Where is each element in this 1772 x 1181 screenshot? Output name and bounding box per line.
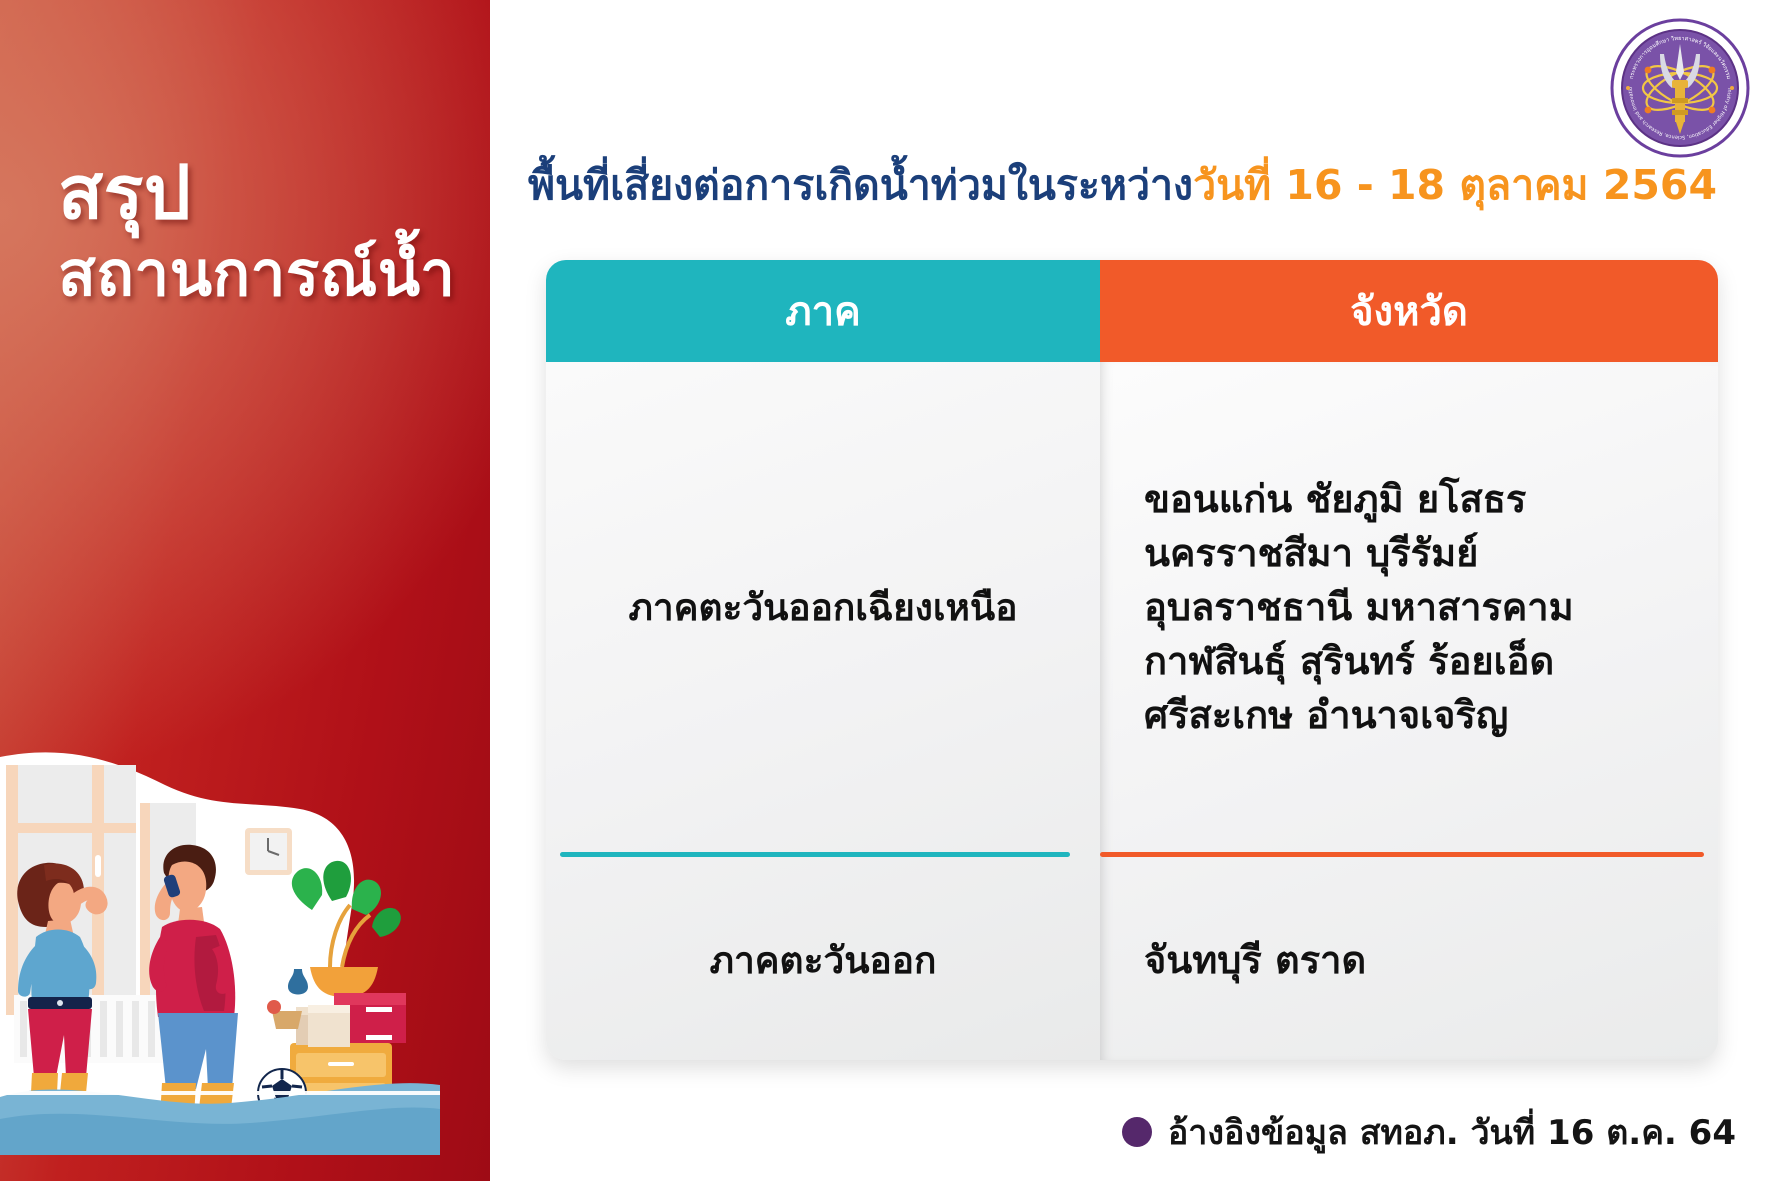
province-line: ศรีสะเกษ อำนาจเจริญ — [1144, 689, 1574, 743]
table-row: ขอนแก่น ชัยภูมิ ยโสธร นครราชสีมา บุรีรัม… — [1100, 362, 1718, 854]
region-cell-2: ภาคตะวันออก — [710, 936, 937, 986]
table-column-region: ภาคตะวันออกเฉียงเหนือ ภาคตะวันออก — [546, 362, 1100, 1060]
table-row: ภาคตะวันออก — [546, 862, 1100, 1060]
ministry-logo: กระทรวงการอุดมศึกษา วิทยาศาสตร์ วิจัยและ… — [1606, 14, 1754, 162]
province-cell-1: ขอนแก่น ชัยภูมิ ยโสธร นครราชสีมา บุรีรัม… — [1100, 473, 1574, 743]
headline: พื้นที่เสี่ยงต่อการเกิดน้ำท่วมในระหว่างว… — [528, 160, 1718, 211]
province-line: อุบลราชธานี มหาสารคาม — [1144, 581, 1574, 635]
source-reference-text: อ้างอิงข้อมูล สทอภ. วันที่ 16 ต.ค. 64 — [1168, 1105, 1736, 1159]
bullet-icon — [1122, 1117, 1152, 1147]
province-line: จันทบุรี ตราด — [1144, 934, 1366, 988]
table-body: ภาคตะวันออกเฉียงเหนือ ภาคตะวันออก ขอนแก่… — [546, 362, 1718, 1060]
table-header-row: ภาค จังหวัด — [546, 260, 1718, 362]
left-red-panel: สรุป สถานการณ์น้ำ — [0, 0, 490, 1181]
region-cell-1: ภาคตะวันออกเฉียงเหนือ — [629, 583, 1018, 633]
page-title-line1: สรุป — [58, 152, 478, 235]
table-header-province: จังหวัด — [1100, 260, 1718, 362]
province-line: กาฬสินธุ์ สุรินทร์ ร้อยเอ็ด — [1144, 635, 1574, 689]
infographic-page: สรุป สถานการณ์น้ำ — [0, 0, 1772, 1181]
headline-orange-part: วันที่ 16 - 18 ตุลาคม 2564 — [1193, 161, 1717, 209]
page-title: สรุป สถานการณ์น้ำ — [58, 152, 478, 308]
table-header-province-label: จังหวัด — [1350, 279, 1468, 343]
table-column-province: ขอนแก่น ชัยภูมิ ยโสธร นครราชสีมา บุรีรัม… — [1100, 362, 1718, 1060]
row-divider-teal — [560, 852, 1070, 857]
table-row: จันทบุรี ตราด — [1100, 862, 1718, 1060]
province-line: ขอนแก่น ชัยภูมิ ยโสธร — [1144, 473, 1574, 527]
left-panel-divider — [0, 1091, 440, 1095]
province-line: นครราชสีมา บุรีรัมย์ — [1144, 527, 1574, 581]
headline-blue-part: พื้นที่เสี่ยงต่อการเกิดน้ำท่วมในระหว่าง — [528, 161, 1193, 209]
province-cell-2: จันทบุรี ตราด — [1100, 934, 1366, 988]
table-header-region: ภาค — [546, 260, 1100, 362]
table-header-region-label: ภาค — [785, 279, 861, 343]
flooded-home-couple-illustration — [0, 705, 440, 1155]
page-title-line2: สถานการณ์น้ำ — [58, 239, 478, 308]
risk-area-table: ภาค จังหวัด ภาคตะวันออกเฉียงเหนือ ภาคตะว… — [546, 260, 1718, 1060]
source-reference: อ้างอิงข้อมูล สทอภ. วันที่ 16 ต.ค. 64 — [1122, 1105, 1736, 1159]
table-row: ภาคตะวันออกเฉียงเหนือ — [546, 362, 1100, 854]
row-divider-orange — [1100, 852, 1704, 857]
